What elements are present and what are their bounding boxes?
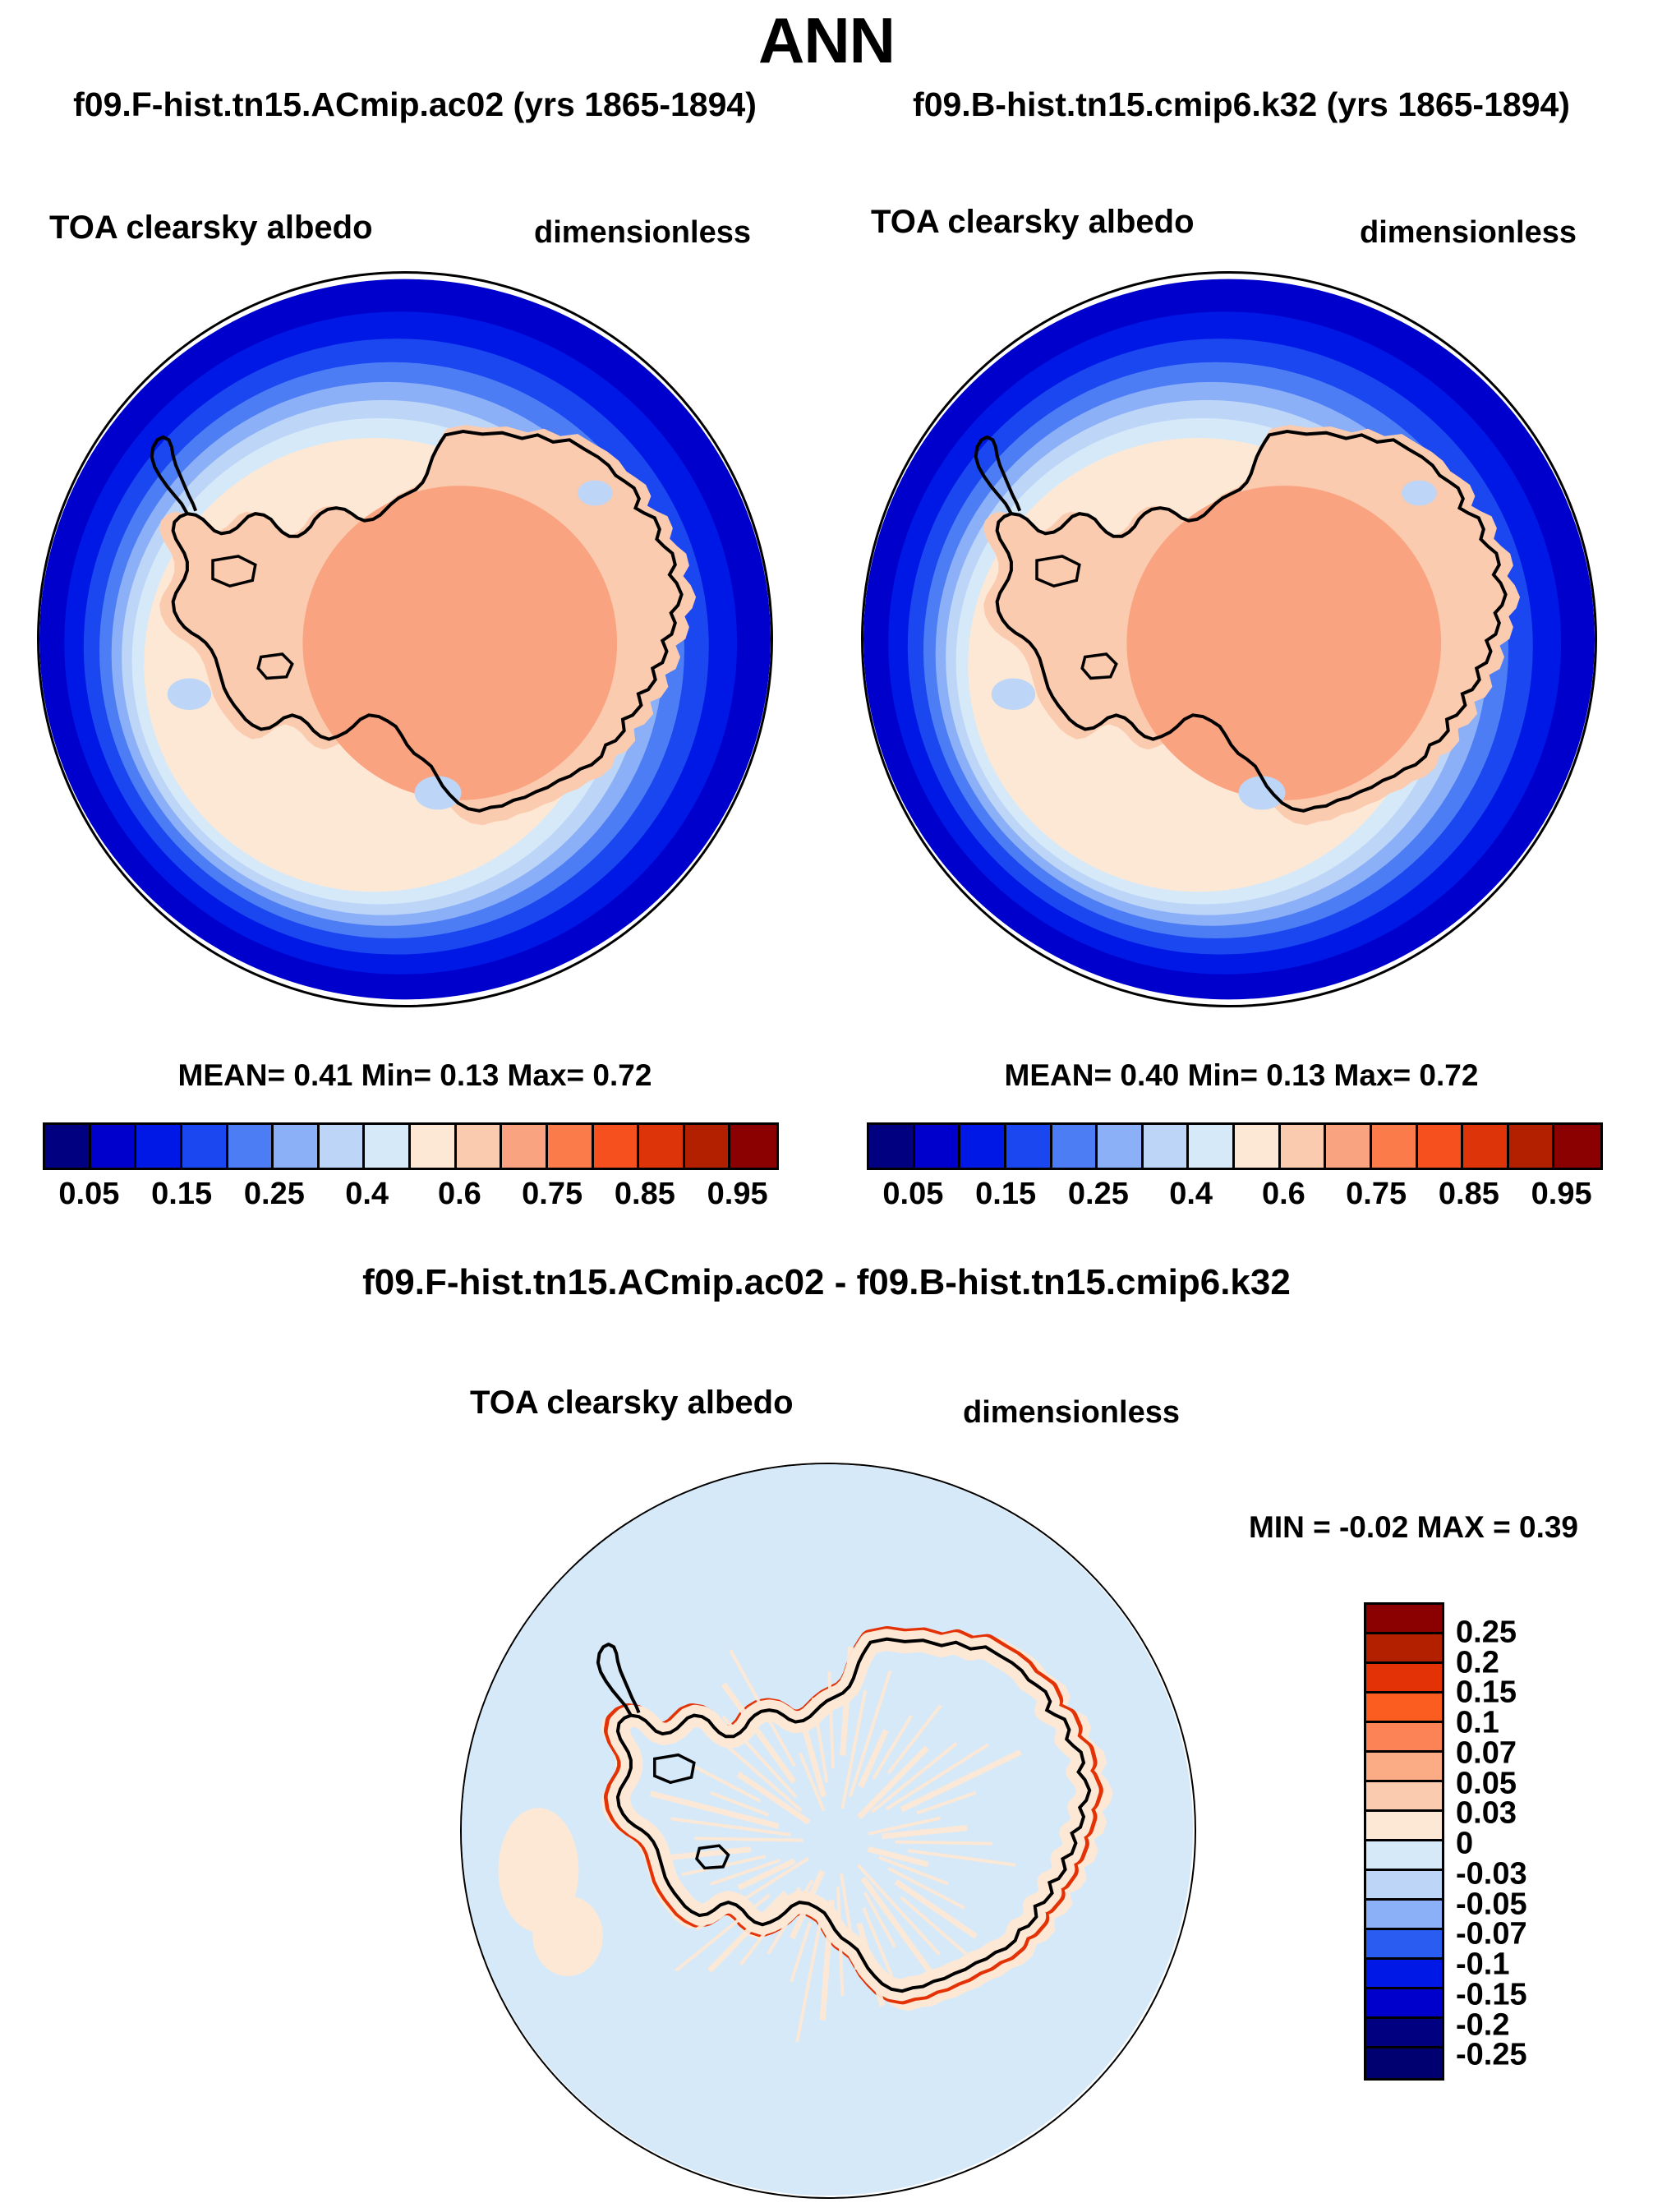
variable-label-left: TOA clearsky albedo <box>49 210 373 247</box>
colorbar-cell <box>1366 1841 1442 1871</box>
panel-right[interactable]: TOA clearsky albedo dimensionless MEAN= … <box>830 148 1653 1118</box>
colorbar-cell <box>1052 1125 1098 1168</box>
colorbar-cell <box>1366 1960 1442 1989</box>
colorbar-cell <box>1366 1723 1442 1753</box>
colorbar-tick-label: 0.25 <box>1068 1177 1129 1212</box>
variable-label-right: TOA clearsky albedo <box>871 204 1195 241</box>
polar-contour-field <box>863 274 1595 1005</box>
coastal-bay <box>168 679 211 710</box>
colorbar-cell <box>45 1125 91 1168</box>
colorbar-cell <box>1366 1753 1442 1782</box>
panel-left[interactable]: TOA clearsky albedo dimensionless MEAN= … <box>0 148 830 1118</box>
units-label-left: dimensionless <box>534 215 751 251</box>
colorbar-cell <box>1366 2019 1442 2048</box>
colorbar-cell <box>1006 1125 1052 1168</box>
polar-map-right[interactable] <box>861 271 1597 1007</box>
colorbar-cell <box>685 1125 731 1168</box>
colorbar-cell <box>228 1125 274 1168</box>
colorbar-tick-label: 0.4 <box>345 1177 389 1212</box>
stats-left: MEAN= 0.41 Min= 0.13 Max= 0.72 <box>0 1058 830 1093</box>
polar-map-difference[interactable] <box>460 1463 1196 2199</box>
colorbar-cell <box>274 1125 320 1168</box>
stats-difference: MIN = -0.02 MAX = 0.39 <box>1249 1510 1578 1545</box>
ocean-anomaly-patch <box>532 1896 602 1976</box>
colorbar-right-labels: 0.050.150.250.40.60.750.850.95 <box>867 1177 1603 1218</box>
colorbar-cell <box>1326 1125 1372 1168</box>
colorbar-cell <box>182 1125 228 1168</box>
colorbar-cell <box>1189 1125 1235 1168</box>
colorbar-cell <box>365 1125 411 1168</box>
variable-label-diff: TOA clearsky albedo <box>470 1385 794 1422</box>
colorbar-cell <box>91 1125 137 1168</box>
colorbar-cell <box>1098 1125 1144 1168</box>
colorbar-cell <box>730 1125 776 1168</box>
colorbar-left[interactable] <box>43 1122 779 1170</box>
case-label-right: f09.B-hist.tn15.cmip6.k32 (yrs 1865-1894… <box>830 85 1653 124</box>
case-label-left: f09.F-hist.tn15.ACmip.ac02 (yrs 1865-189… <box>0 85 830 124</box>
plateau-band-inner <box>317 581 544 778</box>
panel-difference[interactable]: TOA clearsky albedo dimensionless MIN = … <box>0 1364 1653 2210</box>
colorbar-cell <box>502 1125 548 1168</box>
colorbar-cell <box>915 1125 961 1168</box>
colorbar-cell <box>457 1125 503 1168</box>
colorbar-cell <box>1366 1605 1442 1634</box>
units-label-diff: dimensionless <box>963 1395 1180 1431</box>
colorbar-cell <box>1235 1125 1281 1168</box>
colorbar-tick-label: 0.05 <box>882 1177 943 1212</box>
difference-contour-field <box>462 1464 1193 2196</box>
colorbar-tick-label: 0.6 <box>438 1177 481 1212</box>
colorbar-tick-label: -0.25 <box>1456 2038 1527 2073</box>
case-name-row: f09.F-hist.tn15.ACmip.ac02 (yrs 1865-189… <box>0 85 1653 124</box>
colorbar-cell <box>320 1125 366 1168</box>
colorbar-cell <box>1372 1125 1418 1168</box>
colorbar-tick-label: 0.05 <box>58 1177 119 1212</box>
colorbar-cell <box>1366 2048 1442 2078</box>
colorbar-tick-label: 0.15 <box>975 1177 1036 1212</box>
colorbar-tick-label: 0.95 <box>1531 1177 1592 1212</box>
colorbar-cell <box>594 1125 640 1168</box>
colorbar-cell <box>1463 1125 1509 1168</box>
colorbar-cell <box>1509 1125 1555 1168</box>
colorbar-tick-label: 0.25 <box>244 1177 305 1212</box>
colorbar-tick-label: 0.15 <box>151 1177 212 1212</box>
colorbar-cell <box>1366 1901 1442 1930</box>
colorbar-cell <box>411 1125 457 1168</box>
colorbar-right[interactable] <box>867 1122 1603 1170</box>
stats-right: MEAN= 0.40 Min= 0.13 Max= 0.72 <box>830 1058 1653 1093</box>
colorbar-cell <box>548 1125 594 1168</box>
colorbar-cell <box>136 1125 182 1168</box>
colorbar-tick-label: 0.6 <box>1262 1177 1305 1212</box>
colorbar-cell <box>1366 1782 1442 1812</box>
colorbar-cell <box>1366 1664 1442 1694</box>
colorbar-cell <box>1366 1694 1442 1723</box>
colorbar-cell <box>1366 1930 1442 1960</box>
colorbar-cell <box>869 1125 915 1168</box>
colorbar-tick-label: 0.85 <box>1439 1177 1499 1212</box>
colorbar-tick-label: 0.95 <box>707 1177 768 1212</box>
colorbar-tick-label: 0.4 <box>1169 1177 1213 1212</box>
colorbar-cell <box>1366 1871 1442 1901</box>
difference-title: f09.F-hist.tn15.ACmip.ac02 - f09.B-hist.… <box>0 1262 1653 1303</box>
colorbar-cell <box>639 1125 685 1168</box>
coastal-bay <box>992 679 1035 710</box>
coastal-bay <box>578 481 613 506</box>
colorbar-tick-label: 0.85 <box>615 1177 675 1212</box>
polar-map-left[interactable] <box>37 271 773 1007</box>
plateau-band-inner <box>1141 581 1368 778</box>
colorbar-cell <box>1366 1812 1442 1841</box>
colorbar-difference-labels: 0.250.20.150.10.070.050.030-0.03-0.05-0.… <box>1456 1602 1620 2076</box>
colorbar-tick-label: 0.75 <box>1346 1177 1407 1212</box>
polar-contour-field <box>39 274 771 1005</box>
colorbar-cell <box>1554 1125 1600 1168</box>
coastal-bay <box>1402 481 1437 506</box>
page-title: ANN <box>0 3 1653 78</box>
colorbar-cell <box>1281 1125 1327 1168</box>
colorbar-cell <box>960 1125 1006 1168</box>
colorbar-left-labels: 0.050.150.250.40.60.750.850.95 <box>43 1177 779 1218</box>
colorbar-cell <box>1144 1125 1190 1168</box>
colorbar-tick-label: 0.75 <box>522 1177 582 1212</box>
units-label-right: dimensionless <box>1360 215 1577 251</box>
colorbar-cell <box>1366 1634 1442 1664</box>
colorbar-difference[interactable] <box>1364 1602 1444 2081</box>
colorbar-cell <box>1418 1125 1464 1168</box>
colorbar-cell <box>1366 1989 1442 2019</box>
